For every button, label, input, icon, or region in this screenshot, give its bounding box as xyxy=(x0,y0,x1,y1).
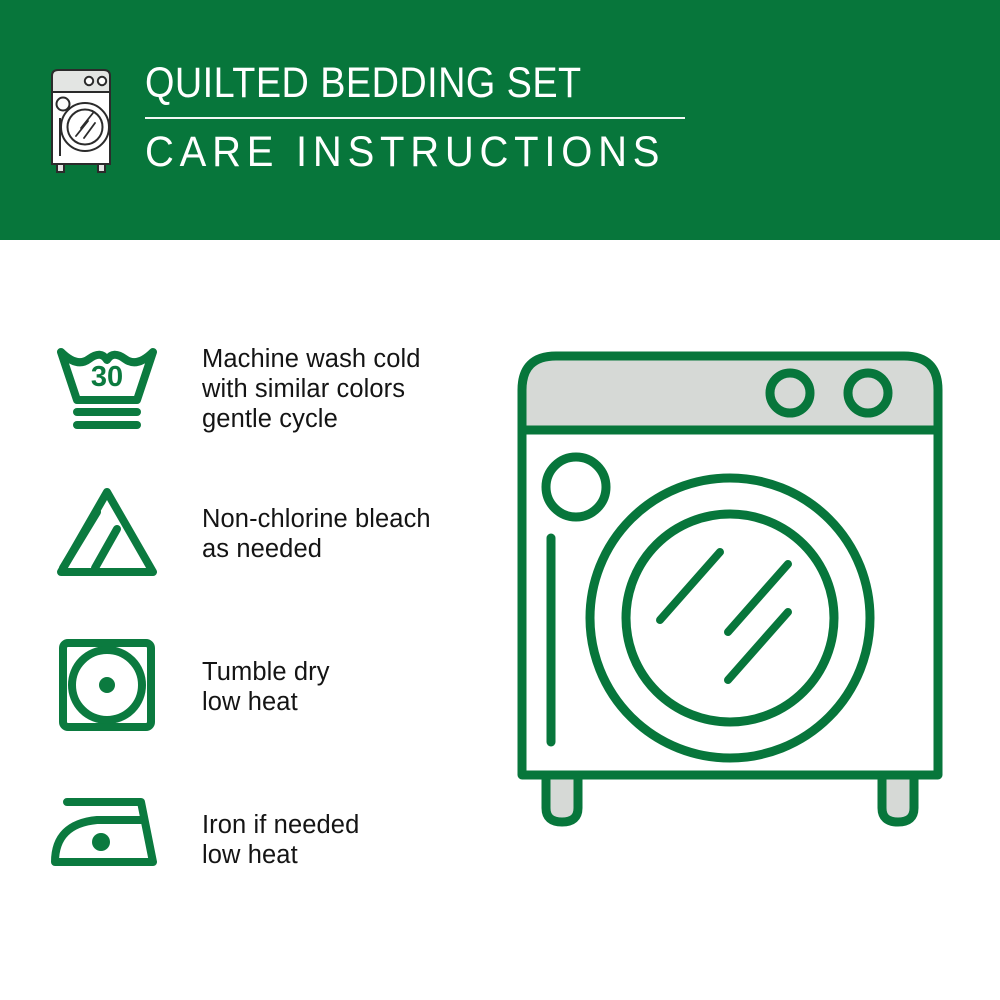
header-content: QUILTED BEDDING SET CARE INSTRUCTIONS xyxy=(45,58,704,178)
page-header: QUILTED BEDDING SET CARE INSTRUCTIONS xyxy=(0,0,1000,240)
non-chlorine-bleach-triangle-icon xyxy=(48,482,166,582)
title-divider xyxy=(145,117,685,119)
tumble-dry-low-heat-icon xyxy=(48,635,166,735)
wash-tub-30-gentle-icon: 30 xyxy=(48,338,166,434)
page-title: QUILTED BEDDING SET xyxy=(145,60,637,106)
wash-temperature-label: 30 xyxy=(91,361,123,393)
washing-machine-icon xyxy=(45,62,123,178)
care-instruction-item: Non-chlorine bleach as needed xyxy=(48,482,431,582)
iron-low-heat-icon xyxy=(48,788,166,874)
care-instruction-item: 30 Machine wash cold with similar colors… xyxy=(48,338,421,434)
care-instruction-item: Tumble dry low heat xyxy=(48,635,330,735)
care-instruction-text: Tumble dry low heat xyxy=(202,635,330,717)
care-instruction-text: Non-chlorine bleach as needed xyxy=(202,482,431,564)
washing-machine-illustration xyxy=(480,330,980,940)
care-instructions-list: 30 Machine wash cold with similar colors… xyxy=(0,240,500,1000)
page-subtitle: CARE INSTRUCTIONS xyxy=(145,129,665,175)
care-instruction-text: Iron if needed low heat xyxy=(202,788,359,870)
care-instruction-text: Machine wash cold with similar colors ge… xyxy=(202,338,421,434)
care-instruction-item: Iron if needed low heat xyxy=(48,788,359,874)
header-title-block: QUILTED BEDDING SET CARE INSTRUCTIONS xyxy=(145,58,704,175)
